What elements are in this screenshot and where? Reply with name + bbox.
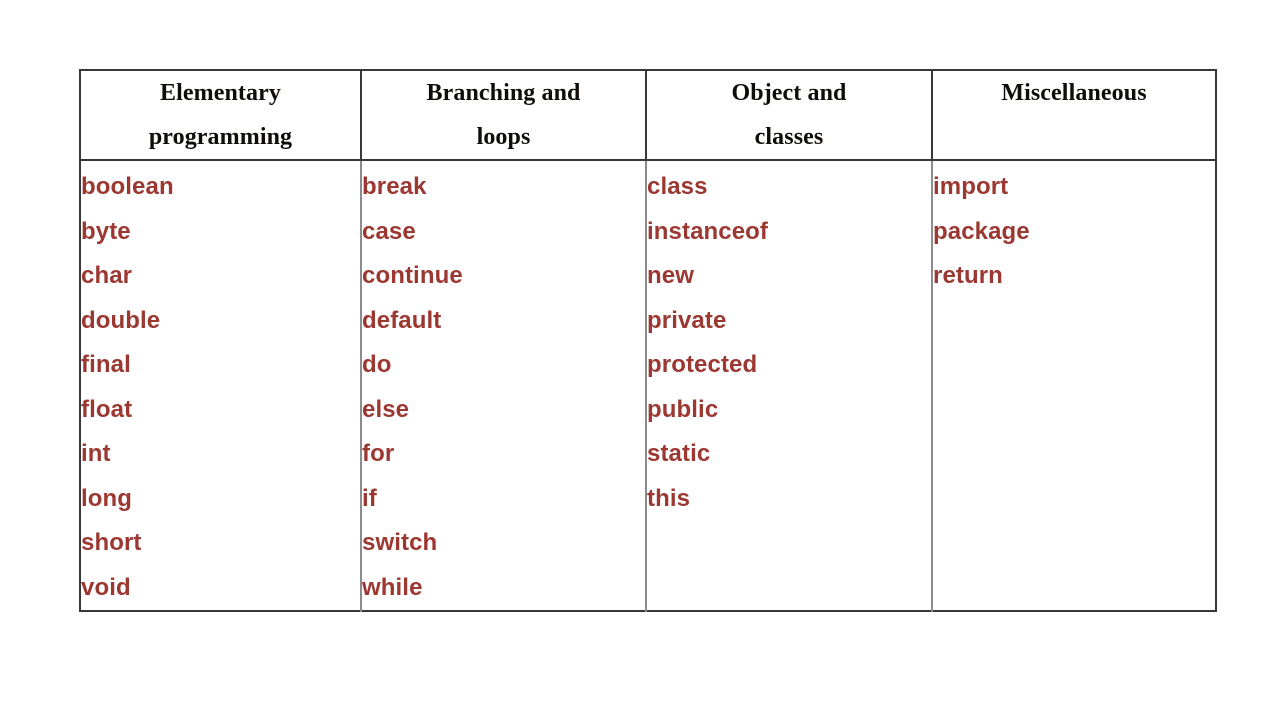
keyword-item: break <box>362 165 645 210</box>
keyword-cell-branching-and-loops: breakcasecontinuedefaultdoelseforifswitc… <box>361 160 646 611</box>
keyword-item: int <box>81 432 360 477</box>
keyword-row: booleanbytechardoublefinalfloatintlongsh… <box>80 160 1216 611</box>
keyword-item: else <box>362 388 645 433</box>
keyword-list: breakcasecontinuedefaultdoelseforifswitc… <box>362 161 645 610</box>
keyword-item: case <box>362 210 645 255</box>
keyword-item: default <box>362 299 645 344</box>
keyword-cell-miscellaneous: importpackagereturn <box>932 160 1216 611</box>
keyword-list: classinstanceofnewprivateprotectedpublic… <box>647 161 931 521</box>
table-header: Elementary programming Branching and loo… <box>80 70 1216 160</box>
column-header-object-and-classes: Object and classes <box>646 70 932 160</box>
keyword-item: return <box>933 254 1215 299</box>
keyword-item: boolean <box>81 165 360 210</box>
keyword-item: public <box>647 388 931 433</box>
keyword-item: if <box>362 477 645 522</box>
keyword-item: do <box>362 343 645 388</box>
keyword-item: static <box>647 432 931 477</box>
column-header-label: Miscellaneous <box>933 71 1215 115</box>
keyword-item: char <box>81 254 360 299</box>
keyword-item: while <box>362 566 645 611</box>
keyword-item: double <box>81 299 360 344</box>
keyword-item: package <box>933 210 1215 255</box>
page-root: Elementary programming Branching and loo… <box>0 0 1280 720</box>
keyword-item: long <box>81 477 360 522</box>
keyword-item: void <box>81 566 360 611</box>
keyword-item: instanceof <box>647 210 931 255</box>
keyword-item: short <box>81 521 360 566</box>
keyword-item: this <box>647 477 931 522</box>
column-header-label: Branching and loops <box>362 71 645 159</box>
column-header-branching-and-loops: Branching and loops <box>361 70 646 160</box>
keyword-list: importpackagereturn <box>933 161 1215 299</box>
keyword-item: class <box>647 165 931 210</box>
column-header-miscellaneous: Miscellaneous <box>932 70 1216 160</box>
column-header-elementary-programming: Elementary programming <box>80 70 361 160</box>
keyword-item: import <box>933 165 1215 210</box>
header-row: Elementary programming Branching and loo… <box>80 70 1216 160</box>
keyword-item: float <box>81 388 360 433</box>
keyword-item: new <box>647 254 931 299</box>
keyword-list: booleanbytechardoublefinalfloatintlongsh… <box>81 161 360 610</box>
keyword-item: byte <box>81 210 360 255</box>
java-keywords-table: Elementary programming Branching and loo… <box>79 69 1217 612</box>
table-body: booleanbytechardoublefinalfloatintlongsh… <box>80 160 1216 611</box>
keyword-item: continue <box>362 254 645 299</box>
keyword-item: for <box>362 432 645 477</box>
keyword-item: private <box>647 299 931 344</box>
keyword-item: protected <box>647 343 931 388</box>
keyword-item: final <box>81 343 360 388</box>
column-header-label: Object and classes <box>647 71 931 159</box>
keyword-item: switch <box>362 521 645 566</box>
column-header-label: Elementary programming <box>81 71 360 159</box>
keyword-cell-elementary-programming: booleanbytechardoublefinalfloatintlongsh… <box>80 160 361 611</box>
keyword-cell-object-and-classes: classinstanceofnewprivateprotectedpublic… <box>646 160 932 611</box>
